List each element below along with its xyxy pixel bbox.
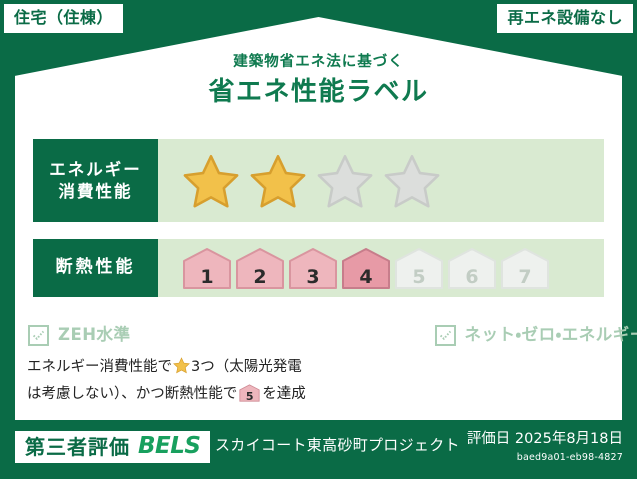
energy-label-line1: エネルギー [49,159,142,180]
certification-checks: ZEH水準 ネット・ゼロ・エネルギー [28,325,608,346]
description-part4: を達成 [262,386,306,402]
evaluation-date: 評価日 2025年8月18日 [467,432,623,447]
star-empty-icon [383,153,441,209]
evaluation-id: baed9a01-eb98-4827 [467,453,623,463]
insulation-performance-label: 断熱性能 [33,239,158,297]
insulation-level-badge-4: 4 [341,247,391,290]
insulation-level-badge-1: 1 [182,247,232,290]
insulation-level-scale: 1234567 [182,247,550,290]
bels-logo-text: BELS [138,435,200,458]
label-title: 建築物省エネ法に基づく 省エネ性能ラベル [0,55,637,105]
insulation-level-badge-3: 3 [288,247,338,290]
inline-badge-value: 5 [239,391,260,402]
zeh-checkbox-icon [28,325,49,346]
title-subtitle: 建築物省エネ法に基づく [0,55,637,70]
project-name: スカイコート東高砂町プロジェクト [215,438,460,453]
insulation-level-number: 1 [182,268,232,287]
insulation-level-badge-7: 7 [500,247,550,290]
insulation-label-line1: 断熱性能 [56,257,136,279]
inline-star-icon [173,357,190,383]
insulation-performance-row: 断熱性能 1234567 [33,239,604,297]
energy-performance-body [158,139,604,222]
inline-insulation-badge-icon: 5 [239,384,260,402]
energy-label-line2: 消費性能 [59,181,133,202]
insulation-performance-body: 1234567 [158,239,604,297]
description-part3: は考慮しない）、かつ断熱性能で [27,386,237,402]
check-item-zeh: ZEH水準 [28,325,131,346]
insulation-level-badge-6: 6 [447,247,497,290]
energy-performance-row: エネルギー 消費性能 [33,139,604,222]
renewable-equipment-tag: 再エネ設備なし [497,4,633,33]
net-zero-energy-label: ネット・ゼロ・エネルギー [465,327,637,344]
insulation-level-number: 2 [235,268,285,287]
insulation-level-badge-5: 5 [394,247,444,290]
star-filled-icon [249,153,307,209]
zeh-label: ZEH水準 [58,327,131,344]
insulation-level-number: 3 [288,268,338,287]
energy-performance-label: エネルギー 消費性能 [33,139,158,222]
label-footer: 第三者評価 BELS スカイコート東高砂町プロジェクト 評価日 2025年8月1… [0,427,637,479]
insulation-level-number: 7 [500,268,550,287]
insulation-level-number: 6 [447,268,497,287]
evaluation-info: 評価日 2025年8月18日 baed9a01-eb98-4827 [467,432,623,462]
insulation-level-badge-2: 2 [235,247,285,290]
star-filled-icon [182,153,240,209]
star-empty-icon [316,153,374,209]
building-type-tag: 住宅（住棟） [4,4,123,33]
bels-certification-badge: 第三者評価 BELS [15,431,210,463]
third-party-evaluation-text: 第三者評価 [25,437,130,457]
title-main: 省エネ性能ラベル [0,79,637,105]
description-part2: 3つ（太陽光発電 [191,359,302,375]
insulation-level-number: 4 [341,268,391,287]
check-item-net-zero-energy: ネット・ゼロ・エネルギー [435,325,637,346]
insulation-level-number: 5 [394,268,444,287]
description-part1: エネルギー消費性能で [27,359,172,375]
net-zero-energy-checkbox-icon [435,325,456,346]
star-rating [182,153,441,209]
criteria-description: エネルギー消費性能で 3つ（太陽光発電 は考慮しない）、かつ断熱性能で 5を達成 [27,356,357,406]
